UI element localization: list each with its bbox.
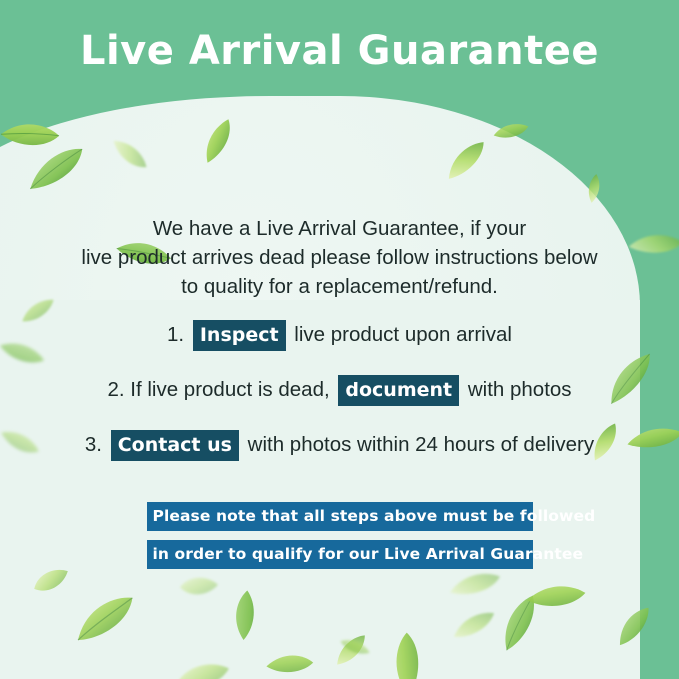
step-text-after-2: with photos — [468, 378, 572, 401]
step-number-2: 2. — [107, 378, 124, 401]
step-text-after-3: with photos within 24 hours of delivery — [248, 433, 594, 456]
step-number-3: 3. — [85, 433, 102, 456]
intro-line-2: live product arrives dead please follow … — [60, 243, 620, 272]
step-number-1: 1. — [167, 323, 184, 346]
live-arrival-guarantee-graphic: Live Arrival Guarantee We have a Live Ar… — [0, 0, 679, 679]
step-item-3: 3. Contact us with photos within 24 hour… — [0, 428, 679, 462]
footer-note-gap — [147, 531, 533, 540]
footer-note-line-2: in order to qualify for our Live Arrival… — [147, 540, 533, 569]
step-text-after-1: live product upon arrival — [294, 323, 512, 346]
footer-note: Please note that all steps above must be… — [147, 502, 533, 569]
instruction-steps: 1. Inspect live product upon arrival 2. … — [0, 318, 679, 483]
intro-paragraph: We have a Live Arrival Guarantee, if you… — [60, 214, 620, 301]
intro-line-1: We have a Live Arrival Guarantee, if you… — [60, 214, 620, 243]
intro-line-3: to quality for a replacement/refund. — [60, 272, 620, 301]
step-item-2: 2. If live product is dead, document wit… — [0, 373, 679, 407]
footer-note-line-1: Please note that all steps above must be… — [147, 502, 533, 531]
step-highlight-inspect: Inspect — [193, 320, 286, 351]
step-highlight-document: document — [338, 375, 459, 406]
step-highlight-contact-us: Contact us — [111, 430, 239, 461]
page-title: Live Arrival Guarantee — [0, 28, 679, 74]
step-text-before-2: If live product is dead, — [130, 378, 329, 401]
step-item-1: 1. Inspect live product upon arrival — [0, 318, 679, 352]
